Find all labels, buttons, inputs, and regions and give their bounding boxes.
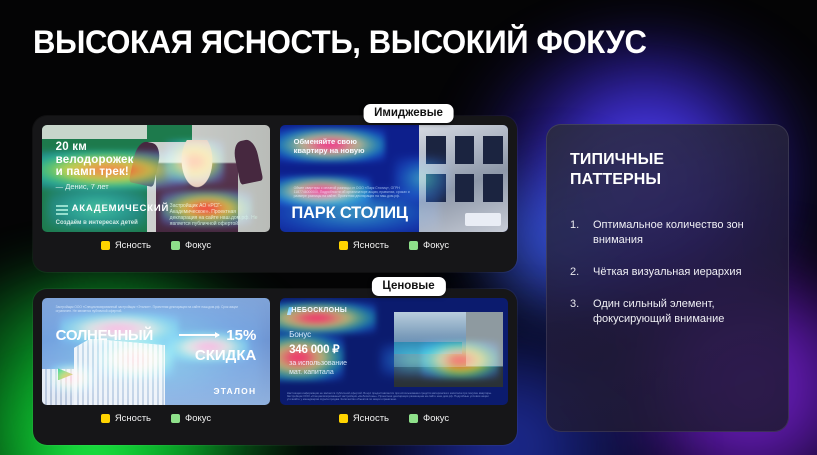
ad1-headline-line3: и памп трек! bbox=[56, 166, 134, 179]
ad2-headline-line1: Обменяйте свою bbox=[294, 137, 365, 146]
list-item: 1. Оптимальное количество зон внимания bbox=[570, 218, 775, 248]
ad1-top-band bbox=[42, 125, 147, 139]
ad-thumbnail-park-stolits[interactable]: Обменяйте свою квартиру на новую Обмен к… bbox=[280, 125, 508, 232]
ad1-quote: — Денис, 7 лет bbox=[56, 182, 109, 191]
ad1-headline-line2: велодорожек bbox=[56, 154, 134, 167]
legend-ad2: Ясность Фокус bbox=[280, 232, 508, 258]
ad4-amount: 346 000 ₽ bbox=[289, 342, 339, 356]
ad1-brand: АКАДЕМИЧЕСКИЙ bbox=[72, 203, 169, 214]
group-panel-cenovye: Застройщик ООО «Специализированный застр… bbox=[33, 289, 517, 445]
slide-root: ВЫСОКАЯ ЯСНОСТЬ, ВЫСОКИЙ ФОКУС Имиджевые… bbox=[0, 0, 817, 455]
ad4-terrace-photo bbox=[394, 312, 503, 387]
legend-item-clarity: Ясность bbox=[101, 413, 151, 424]
ad1-legal-text: Застройщик АО «РСГ-Академическое». Проек… bbox=[170, 203, 261, 227]
ad3-brand: ЭТАЛОН bbox=[213, 386, 256, 396]
ad3-top-fine-print: Застройщик ООО «Специализированный застр… bbox=[56, 305, 252, 313]
ad1-headline: 20 км велодорожек и памп трек! bbox=[56, 141, 134, 179]
ad-thumbnail-akademichesky[interactable]: 20 км велодорожек и памп трек! — Денис, … bbox=[42, 125, 270, 232]
ad3-building-main bbox=[74, 339, 165, 405]
ad1-tagline: Создаём в интересах детей bbox=[56, 220, 138, 226]
group-panel-imagevye: 20 км велодорожек и памп трек! — Денис, … bbox=[33, 116, 517, 272]
legend-label-focus: Фокус bbox=[185, 413, 211, 424]
ad3-headline: СОЛНЕЧНЫЙ bbox=[56, 327, 153, 344]
ad-card-solnechny[interactable]: Застройщик ООО «Специализированный застр… bbox=[42, 298, 270, 445]
list-item-number: 1. bbox=[570, 218, 583, 248]
legend-label-clarity: Ясность bbox=[115, 240, 151, 251]
legend-ad1: Ясность Фокус bbox=[42, 232, 270, 258]
ad2-logo-badge bbox=[465, 213, 501, 226]
focus-swatch-icon bbox=[171, 241, 180, 250]
ad1-logo-icon bbox=[56, 205, 68, 216]
tab-imagevye[interactable]: Имиджевые bbox=[363, 104, 454, 123]
legend-label-clarity: Ясность bbox=[353, 240, 389, 251]
ad3-discount-word: СКИДКА bbox=[195, 347, 256, 364]
patterns-list: 1. Оптимальное количество зон внимания 2… bbox=[570, 218, 775, 344]
ad2-headline-line2: квартиру на новую bbox=[294, 146, 365, 155]
legend-item-focus: Фокус bbox=[409, 240, 449, 251]
legend-item-clarity: Ясность bbox=[101, 240, 151, 251]
ad2-headline: Обменяйте свою квартиру на новую bbox=[294, 137, 365, 155]
clarity-swatch-icon bbox=[101, 414, 110, 423]
legend-label-focus: Фокус bbox=[423, 413, 449, 424]
ad4-condition-line1: за использование bbox=[289, 360, 347, 369]
tab-cenovye[interactable]: Ценовые bbox=[371, 277, 445, 296]
ad-thumbnail-neboskloni[interactable]: НЕБОСКЛОНЫ Бонус 346 000 ₽ за использова… bbox=[280, 298, 508, 405]
legend-label-focus: Фокус bbox=[423, 240, 449, 251]
clarity-swatch-icon bbox=[339, 241, 348, 250]
ad2-brand: ПАРК СТОЛИЦ bbox=[291, 204, 407, 223]
clarity-swatch-icon bbox=[101, 241, 110, 250]
ad-card-neboskloni[interactable]: НЕБОСКЛОНЫ Бонус 346 000 ₽ за использова… bbox=[280, 298, 508, 445]
ad-card-park-stolits[interactable]: Обменяйте свою квартиру на новую Обмен к… bbox=[280, 125, 508, 272]
ad3-percent: 15% bbox=[226, 327, 256, 344]
patterns-title-line2: ПАТТЕРНЫ bbox=[570, 170, 664, 190]
ad4-condition: за использование мат. капитала bbox=[289, 360, 347, 377]
list-item-text: Оптимальное количество зон внимания bbox=[593, 218, 775, 248]
legend-label-clarity: Ясность bbox=[115, 413, 151, 424]
patterns-panel-title: ТИПИЧНЫЕ ПАТТЕРНЫ bbox=[570, 150, 664, 190]
legend-item-clarity: Ясность bbox=[339, 413, 389, 424]
legend-item-focus: Фокус bbox=[409, 413, 449, 424]
patterns-title-line1: ТИПИЧНЫЕ bbox=[570, 150, 664, 170]
ad4-fine-print: Настоящая информация не является публичн… bbox=[287, 392, 501, 402]
ad4-bonus-label: Бонус bbox=[289, 330, 311, 339]
focus-swatch-icon bbox=[409, 414, 418, 423]
legend-label-focus: Фокус bbox=[185, 240, 211, 251]
clarity-swatch-icon bbox=[339, 414, 348, 423]
ad3-arrow-icon bbox=[179, 334, 219, 336]
list-item-number: 2. bbox=[570, 265, 583, 280]
list-item: 2. Чёткая визуальная иерархия bbox=[570, 265, 775, 280]
list-item: 3. Один сильный элемент, фокусирующий вн… bbox=[570, 297, 775, 327]
list-item-number: 3. bbox=[570, 297, 583, 327]
list-item-text: Один сильный элемент, фокусирующий внима… bbox=[593, 297, 775, 327]
page-title: ВЫСОКАЯ ЯСНОСТЬ, ВЫСОКИЙ ФОКУС bbox=[33, 24, 647, 61]
legend-item-clarity: Ясность bbox=[339, 240, 389, 251]
legend-item-focus: Фокус bbox=[171, 240, 211, 251]
patterns-panel: ТИПИЧНЫЕ ПАТТЕРНЫ 1. Оптимальное количес… bbox=[546, 124, 789, 432]
ad-card-akademichesky[interactable]: 20 км велодорожек и памп трек! — Денис, … bbox=[42, 125, 270, 272]
legend-ad4: Ясность Фокус bbox=[280, 405, 508, 431]
ad4-brand: НЕБОСКЛОНЫ bbox=[291, 307, 347, 314]
focus-swatch-icon bbox=[409, 241, 418, 250]
focus-swatch-icon bbox=[171, 414, 180, 423]
ad4-condition-line2: мат. капитала bbox=[289, 369, 347, 378]
legend-item-focus: Фокус bbox=[171, 413, 211, 424]
ad1-headline-line1: 20 км bbox=[56, 141, 134, 154]
list-item-text: Чёткая визуальная иерархия bbox=[593, 265, 742, 280]
ad-thumbnail-solnechny[interactable]: Застройщик ООО «Специализированный застр… bbox=[42, 298, 270, 405]
ad2-fine-print: Обмен квартиры с оплатой разницы от ООО … bbox=[294, 186, 413, 199]
legend-ad3: Ясность Фокус bbox=[42, 405, 270, 431]
legend-label-clarity: Ясность bbox=[353, 413, 389, 424]
